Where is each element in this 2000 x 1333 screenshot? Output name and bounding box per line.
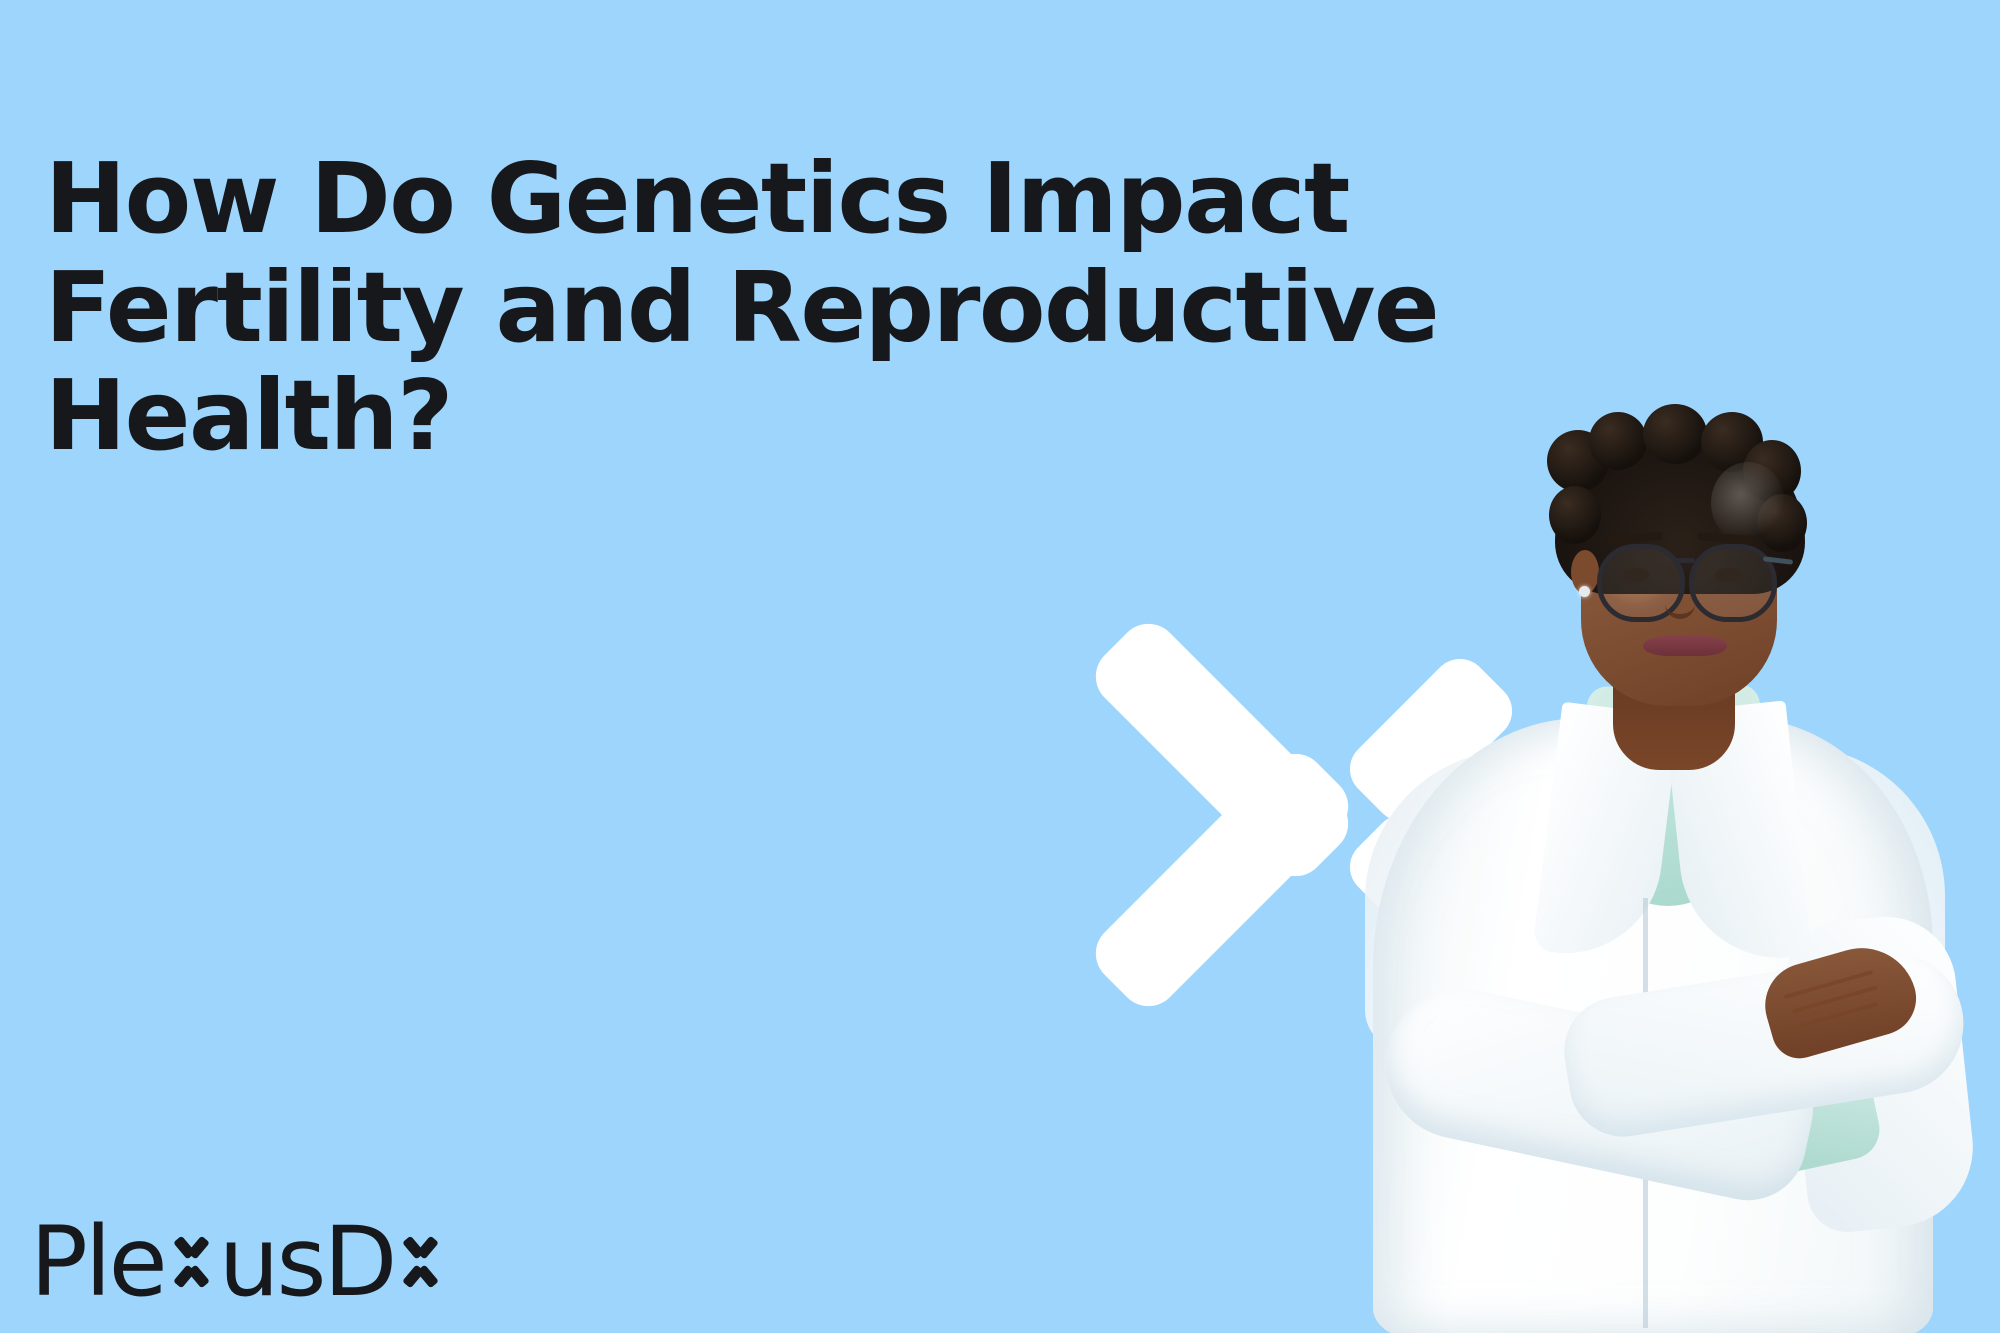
wordmark-x-icon-1 [166,1234,218,1290]
eyeglasses-bridge [1673,558,1695,563]
wordmark-x-icon-2 [395,1234,447,1290]
page-title-line-3: Health? [45,362,1445,471]
wordmark-part-ple: Ple [30,1214,165,1310]
wordmark-part-usd: usD [219,1214,395,1310]
doctor-portrait [1325,378,2000,1333]
hair-curl [1549,486,1601,544]
hair-curl [1589,412,1647,470]
page-title-line-2: Fertility and Reproductive [45,254,1445,363]
earring [1579,586,1590,597]
hero-graphic-canvas: How Do Genetics Impact Fertility and Rep… [0,0,2000,1333]
hair-curl [1643,404,1707,464]
plexusdx-logo[interactable]: Ple usD [30,1206,448,1318]
hair-gray-highlight [1711,462,1785,544]
mouth [1643,636,1727,656]
page-title: How Do Genetics Impact Fertility and Rep… [45,145,1445,471]
page-title-line-1: How Do Genetics Impact [45,145,1445,254]
